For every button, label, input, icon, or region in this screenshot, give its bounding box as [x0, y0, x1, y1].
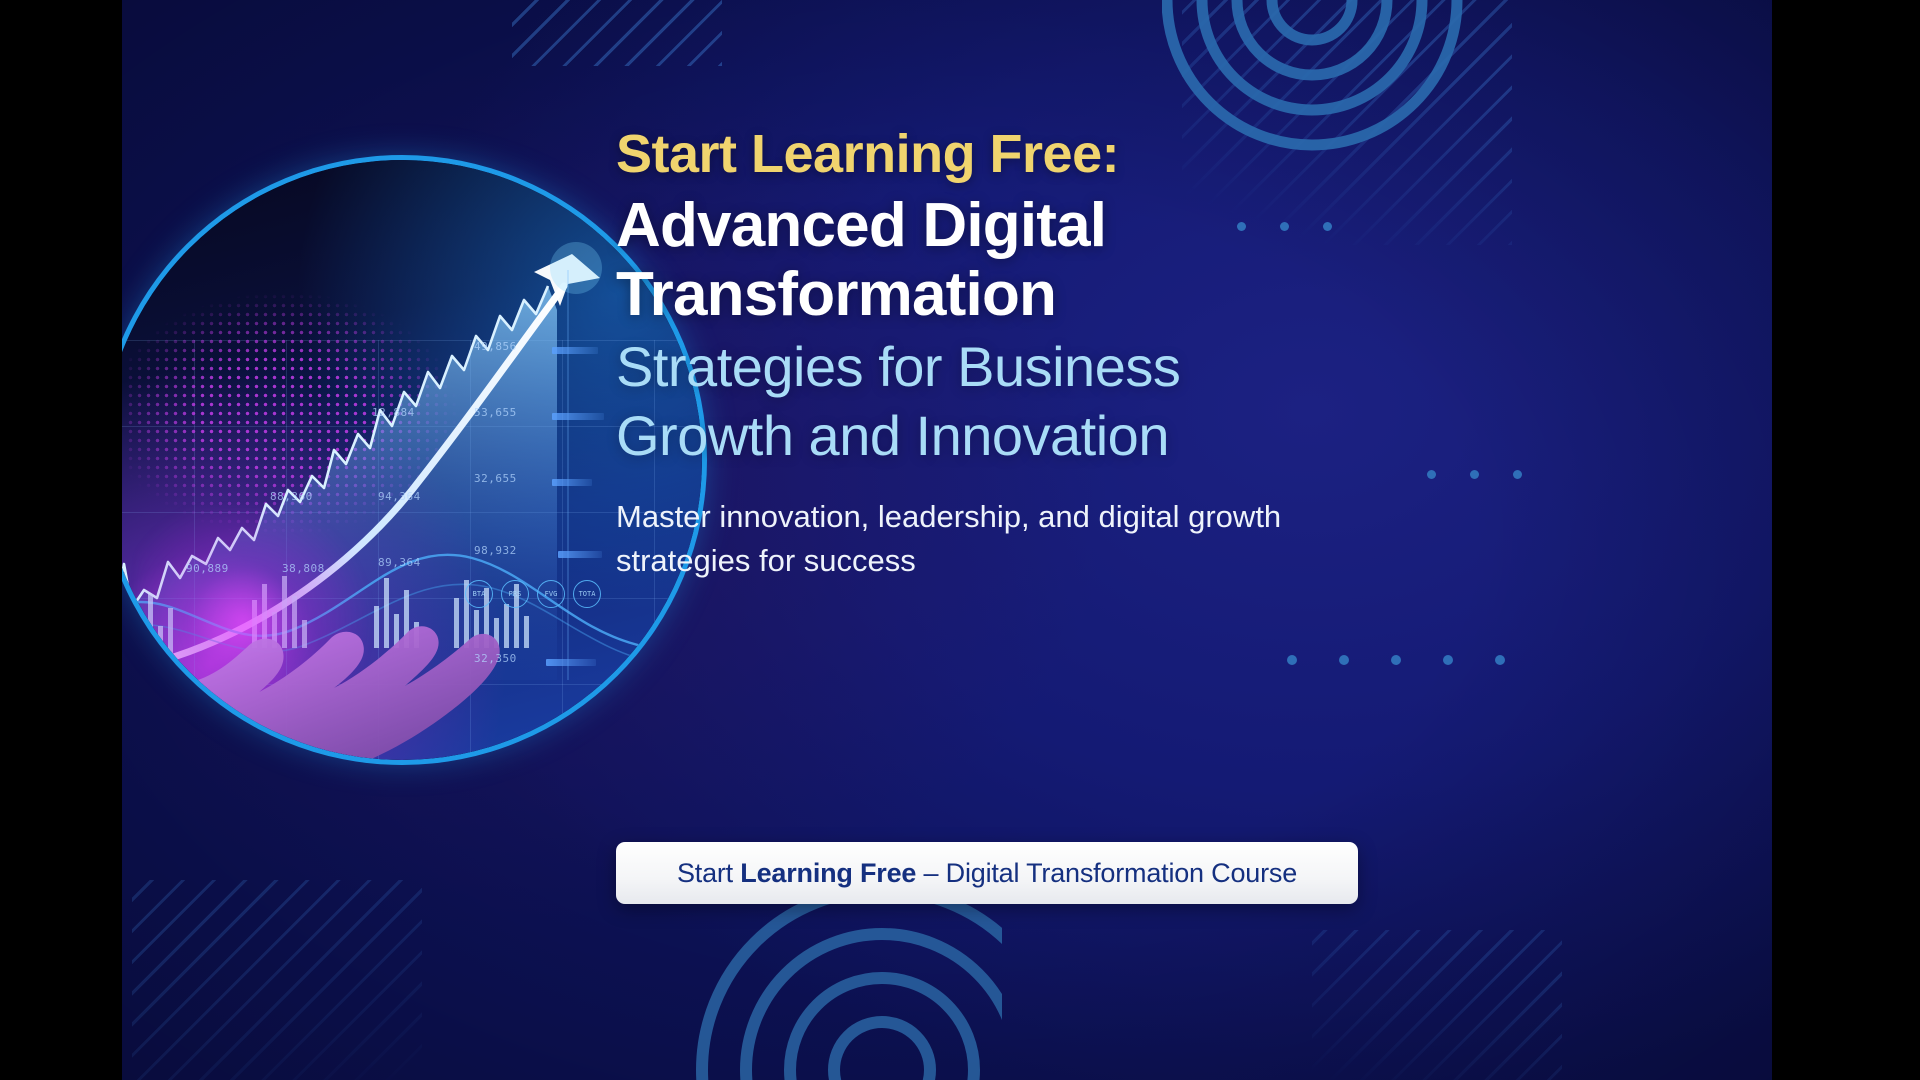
hero-readout-bar-4: [546, 659, 596, 666]
hero-readout-3: 98,932: [474, 544, 517, 557]
cta-label-lead: Start: [677, 858, 740, 888]
subheadline-line-1: Strategies for Business: [616, 334, 1406, 400]
cta-label: Start Learning Free – Digital Transforma…: [677, 858, 1297, 889]
hero-circular-image: 49,856 53,655 32,655 98,932 32,350 88,36…: [122, 160, 702, 760]
subheadline-line-2: Growth and Innovation: [616, 403, 1406, 469]
banner-stage: 49,856 53,655 32,655 98,932 32,350 88,36…: [0, 0, 1920, 1080]
hud-pill-2: FVG: [537, 580, 565, 608]
diagonal-stripes-top-left-icon: [512, 0, 722, 66]
diagonal-stripes-bottom-left-icon: [132, 880, 422, 1080]
hud-pill-3: TOTA: [573, 580, 601, 608]
dot-row-middle-right: [1427, 470, 1522, 479]
hero-readout-7: 90,889: [186, 562, 229, 575]
hero-readout-5: 88,360: [270, 490, 313, 503]
hero-readout-4: 32,350: [474, 652, 517, 665]
support-line-1: Master innovation, leadership, and digit…: [616, 495, 1376, 539]
hero-readout-1: 53,655: [474, 406, 517, 419]
letterbox-bar-right: [1772, 0, 1920, 1080]
promo-banner: 49,856 53,655 32,655 98,932 32,350 88,36…: [122, 0, 1772, 1080]
letterbox-bar-left: [0, 0, 122, 1080]
hero-readout-bar-2: [552, 479, 592, 486]
banner-copy-block: Start Learning Free: Advanced Digital Tr…: [616, 126, 1406, 583]
cta-label-strong: Learning Free: [740, 858, 916, 888]
concentric-arcs-bottom-icon: [582, 770, 1002, 1080]
hero-readout-10: 12,884: [372, 406, 415, 419]
diagonal-stripes-bottom-right-icon: [1312, 930, 1562, 1080]
hero-readout-6: 94,364: [378, 490, 421, 503]
start-learning-free-cta-button[interactable]: Start Learning Free – Digital Transforma…: [616, 842, 1358, 904]
headline-line-1: Advanced Digital: [616, 191, 1406, 260]
cta-label-rest: – Digital Transformation Course: [916, 858, 1297, 888]
support-line-2: strategies for success: [616, 539, 1376, 583]
headline-line-2: Transformation: [616, 260, 1406, 329]
dot-row-lower-right: [1287, 655, 1505, 665]
hero-image-inner: 49,856 53,655 32,655 98,932 32,350 88,36…: [122, 160, 702, 760]
hero-readout-2: 32,655: [474, 472, 517, 485]
hud-pill-0: BTA: [465, 580, 493, 608]
eyebrow-text: Start Learning Free:: [616, 126, 1406, 183]
hero-readout-0: 49,856: [474, 340, 517, 353]
hud-pill-1: PRS: [501, 580, 529, 608]
hero-readout-bar-1: [552, 413, 604, 420]
hero-readout-8: 38,808: [282, 562, 325, 575]
hero-readout-bar-3: [558, 551, 602, 558]
hand-illustration-icon: [122, 508, 618, 760]
hero-readout-9: 89,364: [378, 556, 421, 569]
hero-readout-bar-0: [552, 347, 598, 354]
